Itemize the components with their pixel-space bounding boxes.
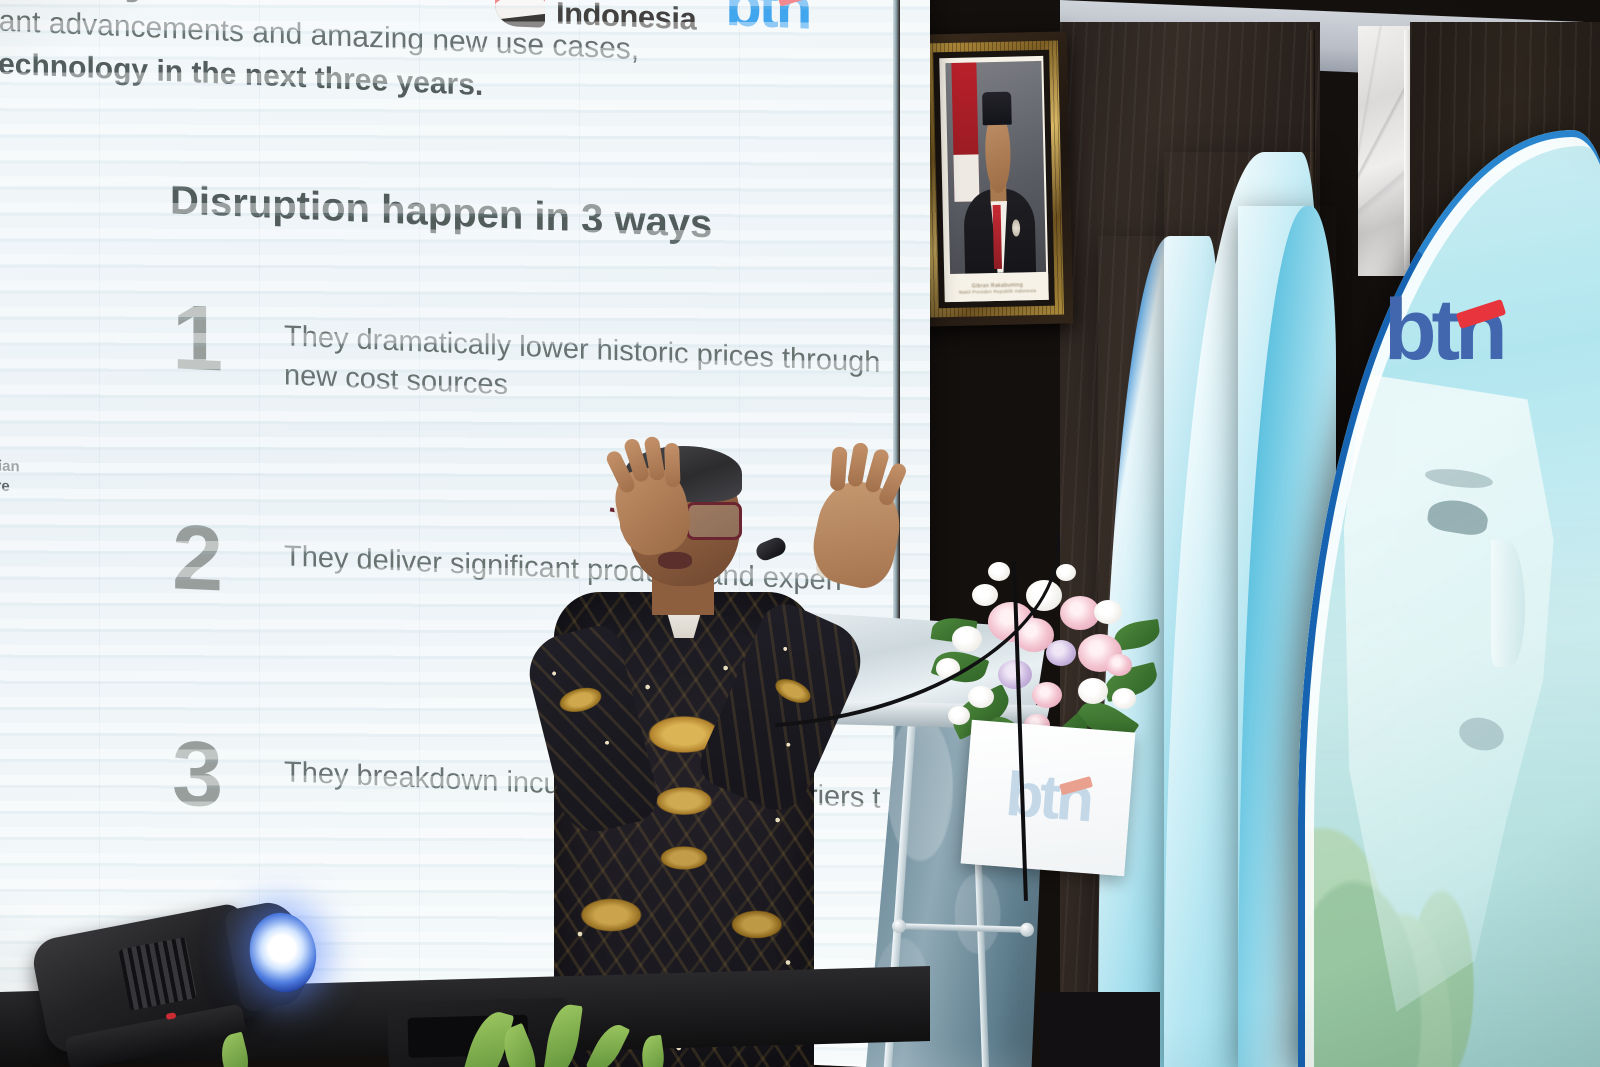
bouquet-flower-white — [1112, 688, 1136, 709]
conference-stage-scene: Gibran Rakabuming Wakil Presiden Republi… — [0, 0, 1600, 1067]
btn-logo-slide: btn — [725, 0, 809, 35]
danantara-mark-icon — [495, 0, 545, 27]
median-score-line1: Median — [0, 455, 20, 477]
slide-point-1: 1 They dramatically lower historic price… — [172, 298, 930, 425]
framed-portrait: Gibran Rakabuming Wakil Presiden Republi… — [915, 31, 1074, 326]
btn-wordmark-backdrop: btn — [1384, 282, 1503, 378]
speaker-finger — [830, 446, 848, 491]
spotlight-vent — [118, 937, 197, 1011]
speaker-mouth — [658, 552, 692, 569]
btn-wordmark-slide: btn — [725, 0, 809, 41]
bouquet-flower-white — [948, 706, 970, 725]
marble-column — [1358, 26, 1410, 276]
portrait-caption-title: Wakil Presiden Republik Indonesia — [959, 288, 1037, 295]
portrait-necktie — [993, 205, 1002, 268]
bouquet-flower-white — [1094, 600, 1122, 624]
median-score-line2: Score — [0, 475, 20, 497]
point-1-number: 1 — [172, 298, 284, 382]
portrait-caption: Gibran Rakabuming Wakil Presiden Republi… — [946, 274, 1049, 302]
btn-logo-backdrop: btn — [1384, 292, 1503, 369]
slide-heading: Disruption happen in 3 ways — [170, 178, 712, 247]
bouquet-flower-white — [1078, 678, 1108, 704]
indonesian-flag — [951, 62, 979, 202]
median-score-label: Median Score — [0, 455, 20, 496]
speaker-finger — [664, 443, 681, 487]
stage-floor-right — [1040, 992, 1160, 1067]
point-3-number: 3 — [172, 734, 284, 818]
panel-rim — [1298, 130, 1600, 1067]
point-2-number: 2 — [172, 518, 284, 602]
songkok-cap — [982, 91, 1012, 125]
portrait-photo — [945, 61, 1046, 274]
danantara-line2: Indonesia — [556, 0, 703, 35]
danantara-wordmark: Danantara Indonesia — [556, 0, 703, 35]
backdrop-main-panel — [1298, 130, 1600, 1067]
point-1-text: They dramatically lower historic prices … — [284, 303, 930, 425]
